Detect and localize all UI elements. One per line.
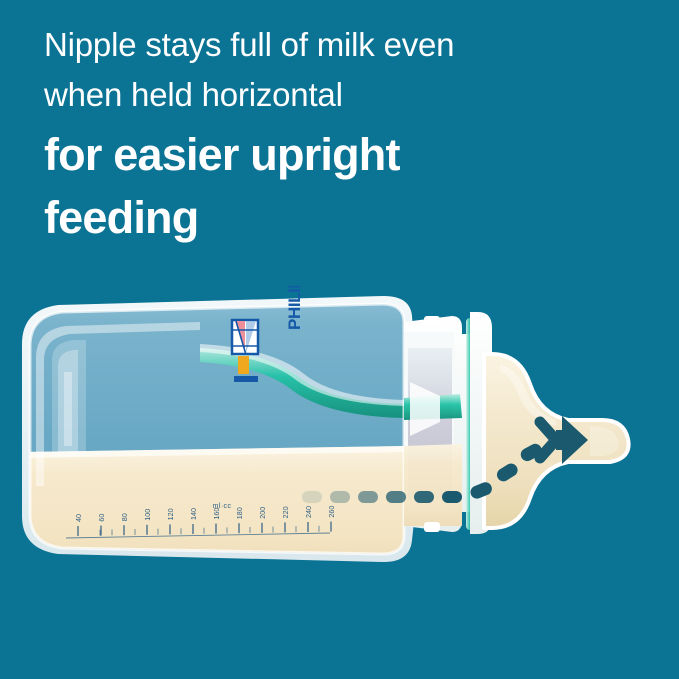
headline-line-2: when held horizontal xyxy=(44,70,644,120)
scale-tick-label: 120 xyxy=(166,508,175,520)
headline-bold-line-1: for easier upright xyxy=(44,127,644,183)
bottle-interior xyxy=(20,296,420,566)
brand-wordmark: PHILIPS xyxy=(285,286,304,330)
scale-tick-label: 220 xyxy=(281,506,290,518)
scale-tick-label: 260 xyxy=(327,506,336,518)
headline-line-1: Nipple stays full of milk even xyxy=(44,20,644,70)
scale-tick-label: 180 xyxy=(235,507,244,519)
scale-tick-label: 240 xyxy=(304,506,313,518)
headline-bold-line-2: feeding xyxy=(44,190,644,246)
headline-block: Nipple stays full of milk even when held… xyxy=(44,20,644,246)
scale-tick-label: 140 xyxy=(189,508,198,520)
scale-tick-label: 40 xyxy=(74,514,83,522)
product-illustration: PHILIPS xyxy=(0,286,679,626)
scale-tick-label: 200 xyxy=(258,507,267,519)
scale-tick-label: 160 xyxy=(212,508,221,520)
scale-tick-label: 100 xyxy=(143,509,152,521)
product-feature-banner: Nipple stays full of milk even when held… xyxy=(0,0,679,679)
scale-tick-label: 80 xyxy=(120,513,129,521)
scale-tick-label: 60 xyxy=(97,514,106,522)
